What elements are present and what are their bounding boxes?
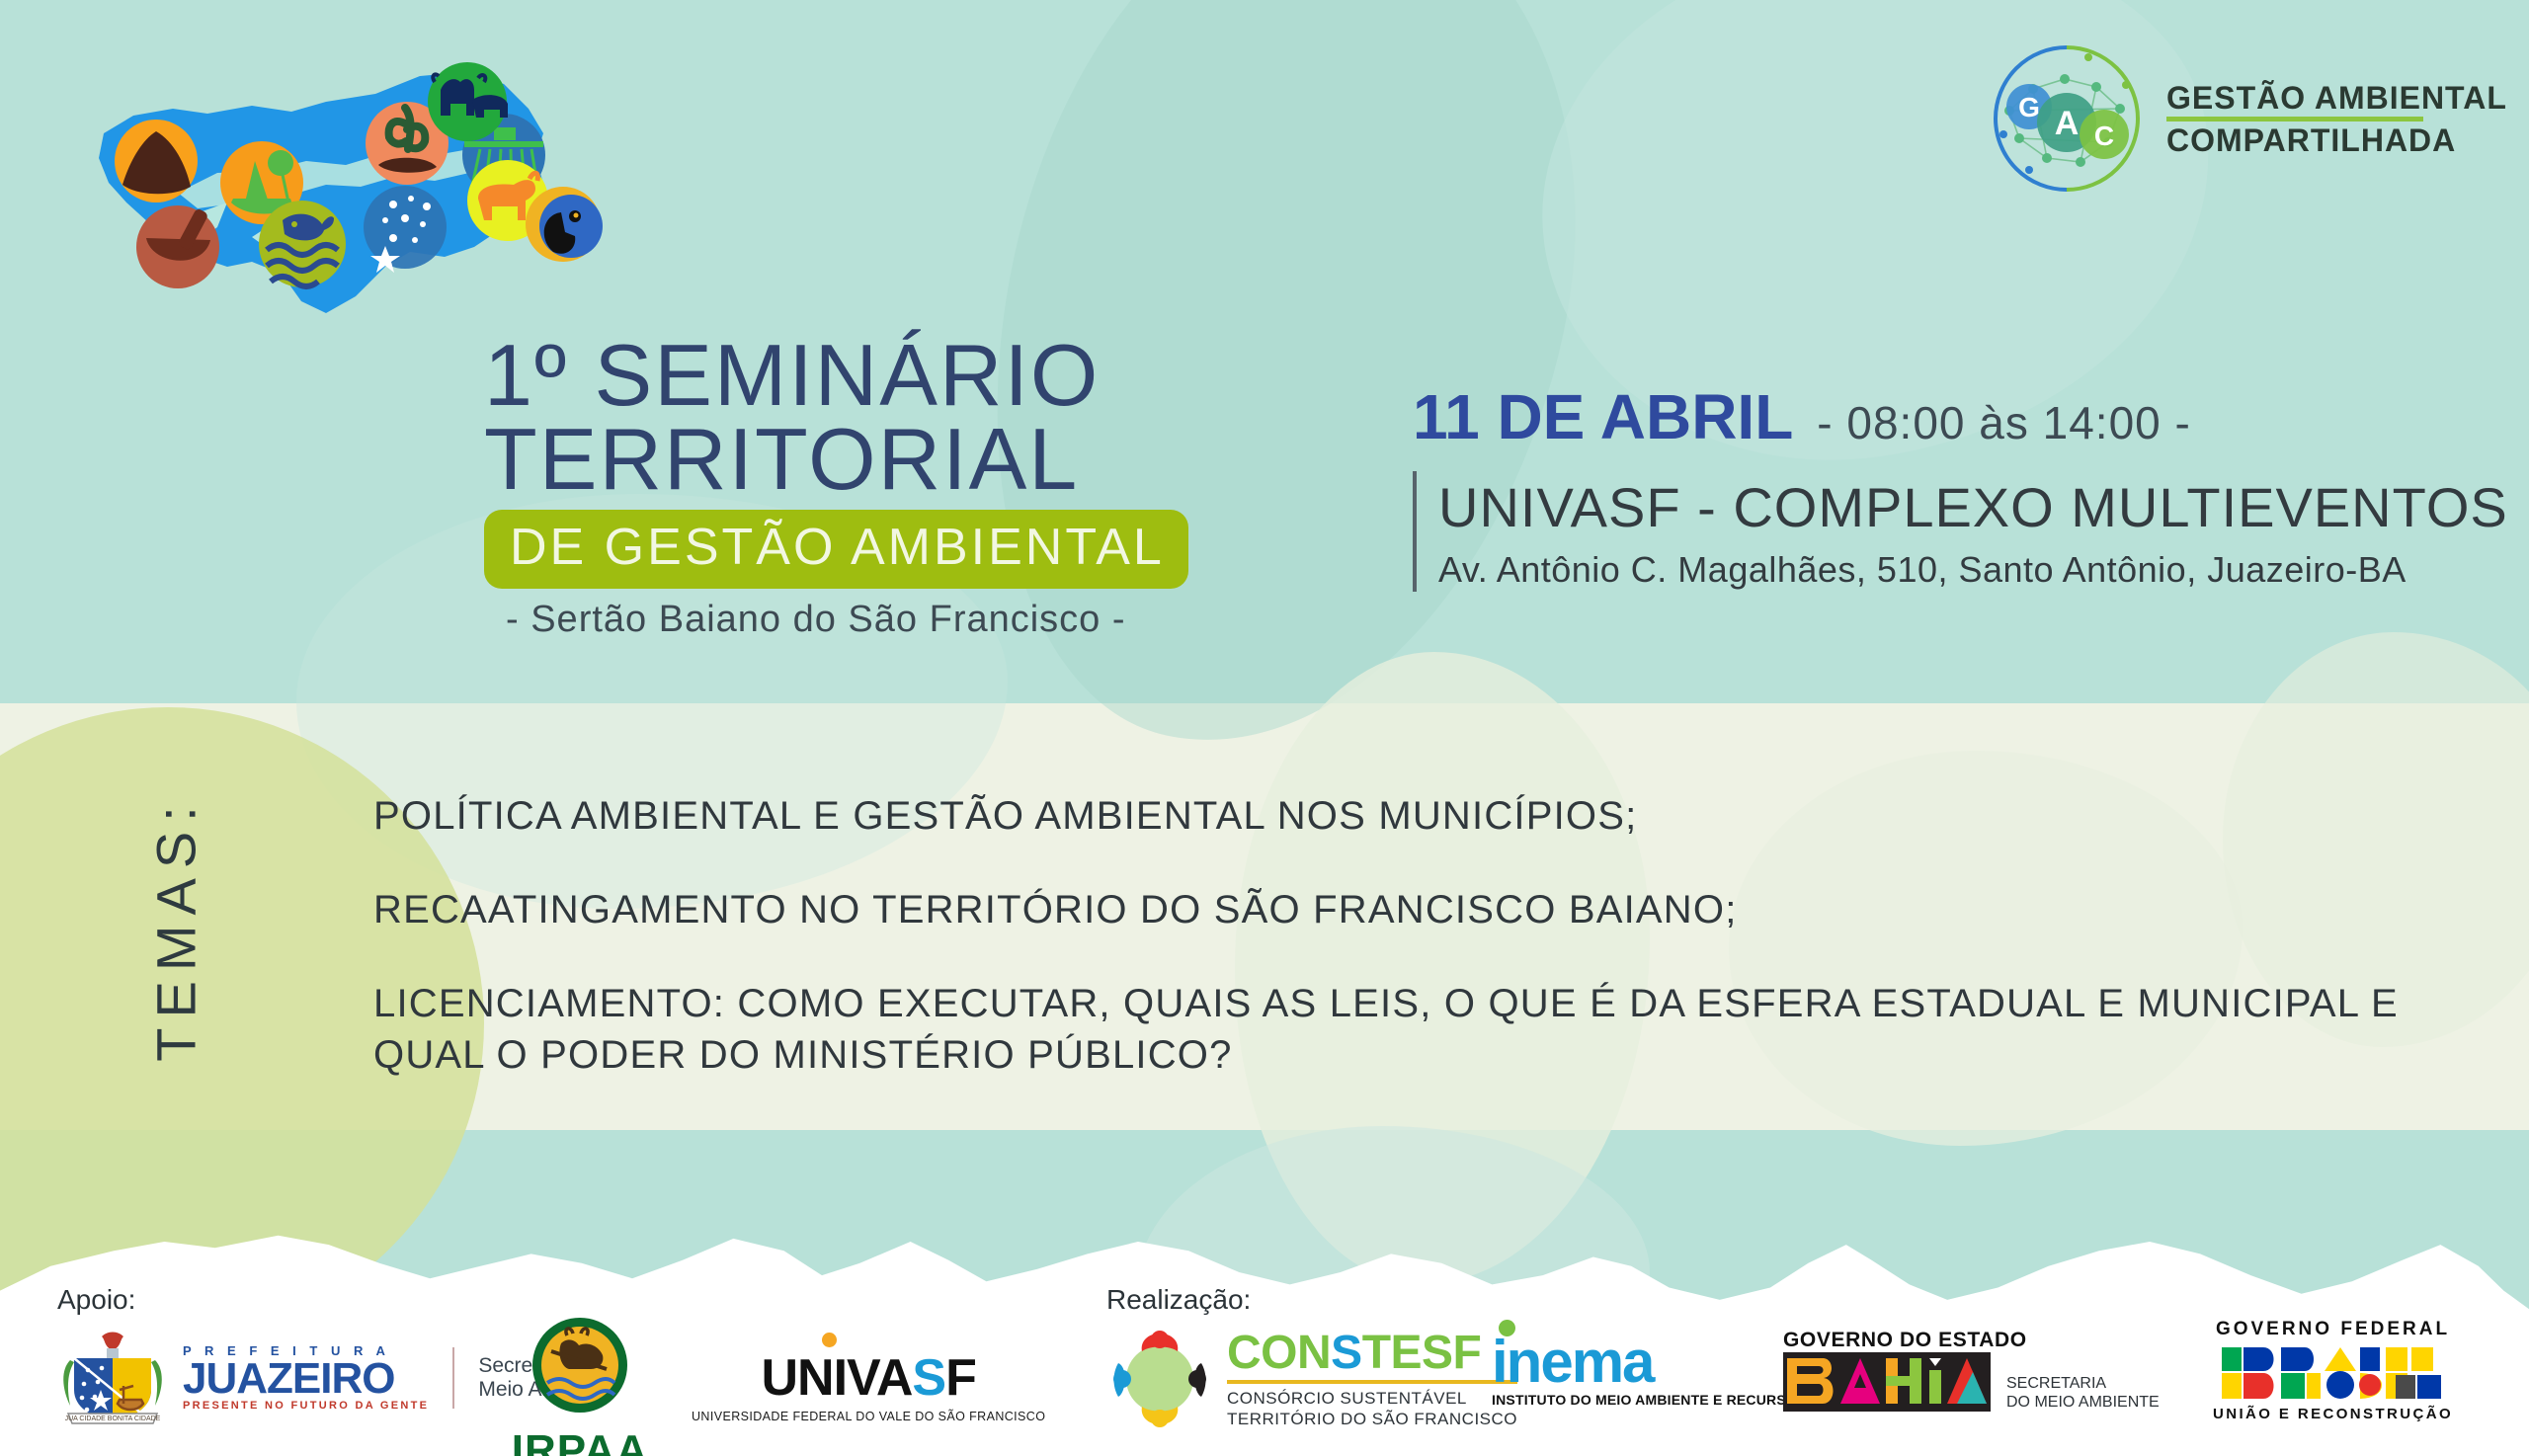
title-line-2: TERRITORIAL: [484, 420, 1215, 500]
fish-waves-icon: [259, 201, 346, 287]
title-line-1: 1º SEMINÁRIO: [484, 336, 1215, 416]
macaw-icon: [526, 187, 603, 262]
gac-logo-text: GESTÃO AMBIENTAL COMPARTILHADA: [2166, 82, 2507, 156]
univasf-name-part-f: F: [945, 1349, 976, 1407]
juazeiro-wordmark: P R E F E I T U R A JUAZEIRO PRESENTE NO…: [183, 1344, 429, 1412]
event-time: - 08:00 às 14:00 -: [1817, 396, 2191, 449]
event-address: Av. Antônio C. Magalhães, 510, Santo Ant…: [1438, 549, 2499, 591]
bahia-colorful-wordmark-icon: [1783, 1352, 1991, 1412]
event-date: 11 DE ABRIL: [1413, 380, 1793, 453]
inema-dot-icon: [1499, 1320, 1515, 1336]
constesf-subtitle: CONSÓRCIO SUSTENTÁVEL TERRITÓRIO DO SÃO …: [1227, 1389, 1517, 1429]
themes-label: TEMAS:: [47, 761, 304, 1096]
svg-text:C: C: [2094, 121, 2114, 151]
inema-wordmark: inema: [1492, 1334, 1653, 1390]
univasf-name-part-s: S: [912, 1349, 945, 1407]
juazeiro-tagline: PRESENTE NO FUTURO DA GENTE: [183, 1401, 429, 1412]
venue-divider-rule: [1413, 471, 1417, 592]
realizacao-label: Realização:: [1106, 1284, 1251, 1316]
bahia-sec-line-2: DO MEIO AMBIENTE: [2006, 1393, 2160, 1412]
bahia-secretaria: SECRETARIA DO MEIO AMBIENTE: [2006, 1374, 2160, 1412]
gac-line-2: COMPARTILHADA: [2166, 124, 2507, 156]
constesf-part-b: TESF: [1362, 1327, 1482, 1379]
territory-map-illustration: [79, 54, 632, 321]
brasil-colorful-wordmark-icon: [2220, 1345, 2447, 1401]
juazeiro-coat-of-arms-icon: JUA CIDADE BONITA CIDADE: [54, 1329, 171, 1427]
inema-name-text: inema: [1492, 1329, 1653, 1395]
theme-item: RECAATINGAMENTO NO TERRITÓRIO DO SÃO FRA…: [373, 884, 2408, 936]
themes-label-text: TEMAS:: [144, 796, 208, 1061]
gac-network-icon: G A C: [1986, 40, 2149, 198]
gac-logo: G A C GESTÃO AMBIENTAL COMPARTILHADA: [1986, 40, 2507, 198]
gac-underline: [2166, 117, 2423, 121]
date-time-row: 11 DE ABRIL - 08:00 às 14:00 -: [1413, 380, 2499, 453]
apoio-label: Apoio:: [57, 1284, 135, 1316]
svg-text:A: A: [2055, 105, 2080, 142]
constesf-sub-line-2: TERRITÓRIO DO SÃO FRANCISCO: [1227, 1410, 1517, 1430]
bahia-sec-line-1: SECRETARIA: [2006, 1374, 2160, 1393]
event-poster: 1º SEMINÁRIO TERRITORIAL DE GESTÃO AMBIE…: [0, 0, 2529, 1456]
constesf-sub-line-1: CONSÓRCIO SUSTENTÁVEL: [1227, 1389, 1517, 1410]
brasil-top-label: GOVERNO FEDERAL: [2216, 1319, 2450, 1340]
svg-text:JUA CIDADE BONITA CIDADE: JUA CIDADE BONITA CIDADE: [65, 1416, 161, 1422]
constesf-underline: [1227, 1380, 1517, 1384]
juazeiro-name: JUAZEIRO: [183, 1357, 429, 1401]
gac-line-1: GESTÃO AMBIENTAL: [2166, 82, 2507, 114]
logo-governo-federal-brasil: GOVERNO FEDERAL UNIÃO E RECONSTRUÇÃO: [2213, 1319, 2453, 1422]
event-title-block: 1º SEMINÁRIO TERRITORIAL DE GESTÃO AMBIE…: [484, 336, 1215, 641]
constesf-part-s: S: [1331, 1327, 1362, 1379]
irpaa-name: IRPAA: [512, 1426, 649, 1456]
logo-constesf: CONSTESF CONSÓRCIO SUSTENTÁVEL TERRITÓRI…: [1106, 1324, 1517, 1434]
event-info-block: 11 DE ABRIL - 08:00 às 14:00 - UNIVASF -…: [1413, 380, 2499, 591]
theme-item: POLÍTICA AMBIENTAL E GESTÃO AMBIENTAL NO…: [373, 790, 2408, 843]
svg-text:G: G: [2018, 92, 2040, 122]
event-venue: UNIVASF - COMPLEXO MULTIEVENTOS: [1438, 475, 2499, 539]
mountain-icon: [115, 120, 198, 202]
constesf-people-circle-icon: [1106, 1324, 1213, 1434]
constesf-wordmark: CONSTESF CONSÓRCIO SUSTENTÁVEL TERRITÓRI…: [1227, 1329, 1517, 1430]
theme-item: LICENCIAMENTO: COMO EXECUTAR, QUAIS AS L…: [373, 978, 2408, 1083]
constesf-part-a: CON: [1227, 1327, 1331, 1379]
logo-univasf: UNIVASF UNIVERSIDADE FEDERAL DO VALE DO …: [692, 1348, 1045, 1423]
title-subtitle-region: - Sertão Baiano do São Francisco -: [484, 599, 1215, 641]
title-pill-subject: DE GESTÃO AMBIENTAL: [484, 510, 1188, 589]
univasf-tagline: UNIVERSIDADE FEDERAL DO VALE DO SÃO FRAN…: [692, 1410, 1045, 1423]
bahia-mark-row: SECRETARIA DO MEIO AMBIENTE: [1783, 1352, 2160, 1412]
univasf-name-part-a: UNIVA: [761, 1349, 912, 1407]
logo-governo-bahia: GOVERNO DO ESTADO SECRETARIA DO MEIO AMB…: [1783, 1329, 2160, 1412]
brasil-bottom-label: UNIÃO E RECONSTRUÇÃO: [2213, 1406, 2453, 1422]
mortar-pestle-icon: [136, 205, 219, 288]
constesf-name: CONSTESF: [1227, 1329, 1517, 1378]
irpaa-emblem-icon: [522, 1314, 638, 1424]
venue-block: UNIVASF - COMPLEXO MULTIEVENTOS Av. Antô…: [1413, 475, 2499, 591]
juazeiro-divider: [452, 1347, 454, 1409]
bahia-top-label: GOVERNO DO ESTADO: [1783, 1329, 2027, 1352]
logo-irpaa: IRPAA CONVIVÊNCIA COM O SEMIÁRIDO: [474, 1314, 686, 1456]
themes-list: POLÍTICA AMBIENTAL E GESTÃO AMBIENTAL NO…: [373, 790, 2408, 1082]
univasf-wordmark: UNIVASF: [761, 1348, 975, 1408]
